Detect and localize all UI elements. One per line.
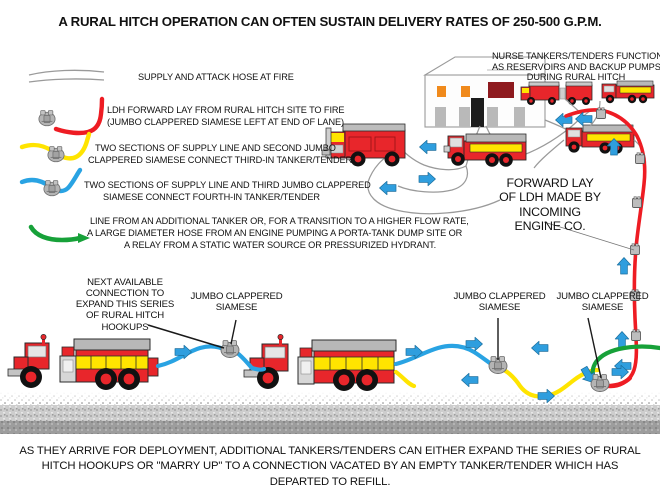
annotation-jumbo-3: JUMBO CLAPPERED SIAMESE	[546, 291, 659, 313]
annotation-jumbo-2: JUMBO CLAPPERED SIAMESE	[443, 291, 556, 313]
nurse-engine-b	[566, 82, 592, 105]
tanker-center	[444, 134, 526, 167]
legend-label-supply-attack-hose: SUPPLY AND ATTACK HOSE AT FIRE	[138, 72, 294, 83]
diagram-canvas: A RURAL HITCH OPERATION CAN OFTEN SUSTAI…	[0, 0, 660, 494]
annotation-nurse-tankers: NURSE TANKERS/TENDERS FUNCTION AS RESERV…	[492, 51, 660, 83]
legend-swatch-yellow	[22, 134, 89, 162]
blue-supply-line-2	[396, 337, 494, 366]
tanker-left-bottom	[8, 334, 158, 390]
footer-caption: AS THEY ARRIVE FOR DEPLOYMENT, ADDITIONA…	[14, 444, 646, 490]
legend-swatch-blue	[22, 170, 80, 196]
tanker-upper-right	[602, 81, 654, 103]
ground-gravel-band	[0, 392, 660, 437]
annotation-jumbo-1: JUMBO CLAPPERED SIAMESE	[180, 291, 293, 313]
footer-rule	[0, 437, 660, 438]
tanker-mid-right	[566, 125, 634, 154]
page-title: A RURAL HITCH OPERATION CAN OFTEN SUSTAI…	[18, 14, 642, 29]
annotation-forward-lay: FORWARD LAY OF LDH MADE BY INCOMING ENGI…	[490, 176, 610, 234]
legend-swatch-red	[39, 99, 102, 133]
annotation-next-available: NEXT AVAILABLE CONNECTION TO EXPAND THIS…	[60, 277, 190, 333]
tanker-center-bottom	[244, 334, 396, 391]
legend-swatch-gray	[29, 70, 104, 82]
legend-swatch-green	[31, 227, 90, 243]
